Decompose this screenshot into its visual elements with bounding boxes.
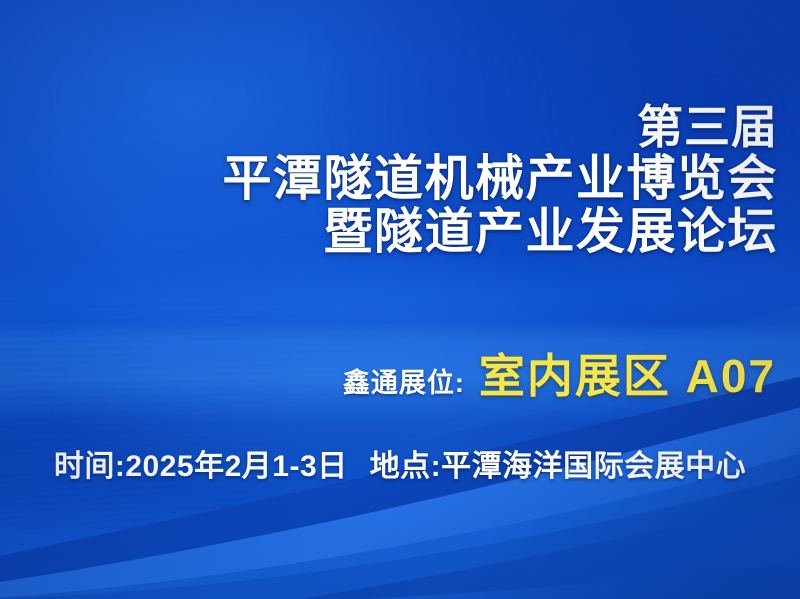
booth-info: 鑫通展位: 室内展区 A07 [343,340,776,406]
event-meta: 时间:2025年2月1-3日 地点:平潭海洋国际会展中心 [0,441,800,485]
poster-headline: 第三届 平潭隧道机械产业博览会 暨隧道产业发展论坛 [18,104,778,258]
event-venue: 地点:平潭海洋国际会展中心 [370,441,747,485]
background-swoosh-graphic [0,0,800,599]
headline-line-3: 暨隧道产业发展论坛 [18,207,778,258]
headline-line-2: 平潭隧道机械产业博览会 [18,154,778,205]
event-poster: 第三届 平潭隧道机械产业博览会 暨隧道产业发展论坛 鑫通展位: 室内展区 A07… [0,0,800,599]
event-date: 时间:2025年2月1-3日 [54,441,348,485]
booth-label: 鑫通展位: [343,361,465,400]
headline-line-1: 第三届 [18,104,778,152]
booth-number: 室内展区 A07 [479,340,776,406]
